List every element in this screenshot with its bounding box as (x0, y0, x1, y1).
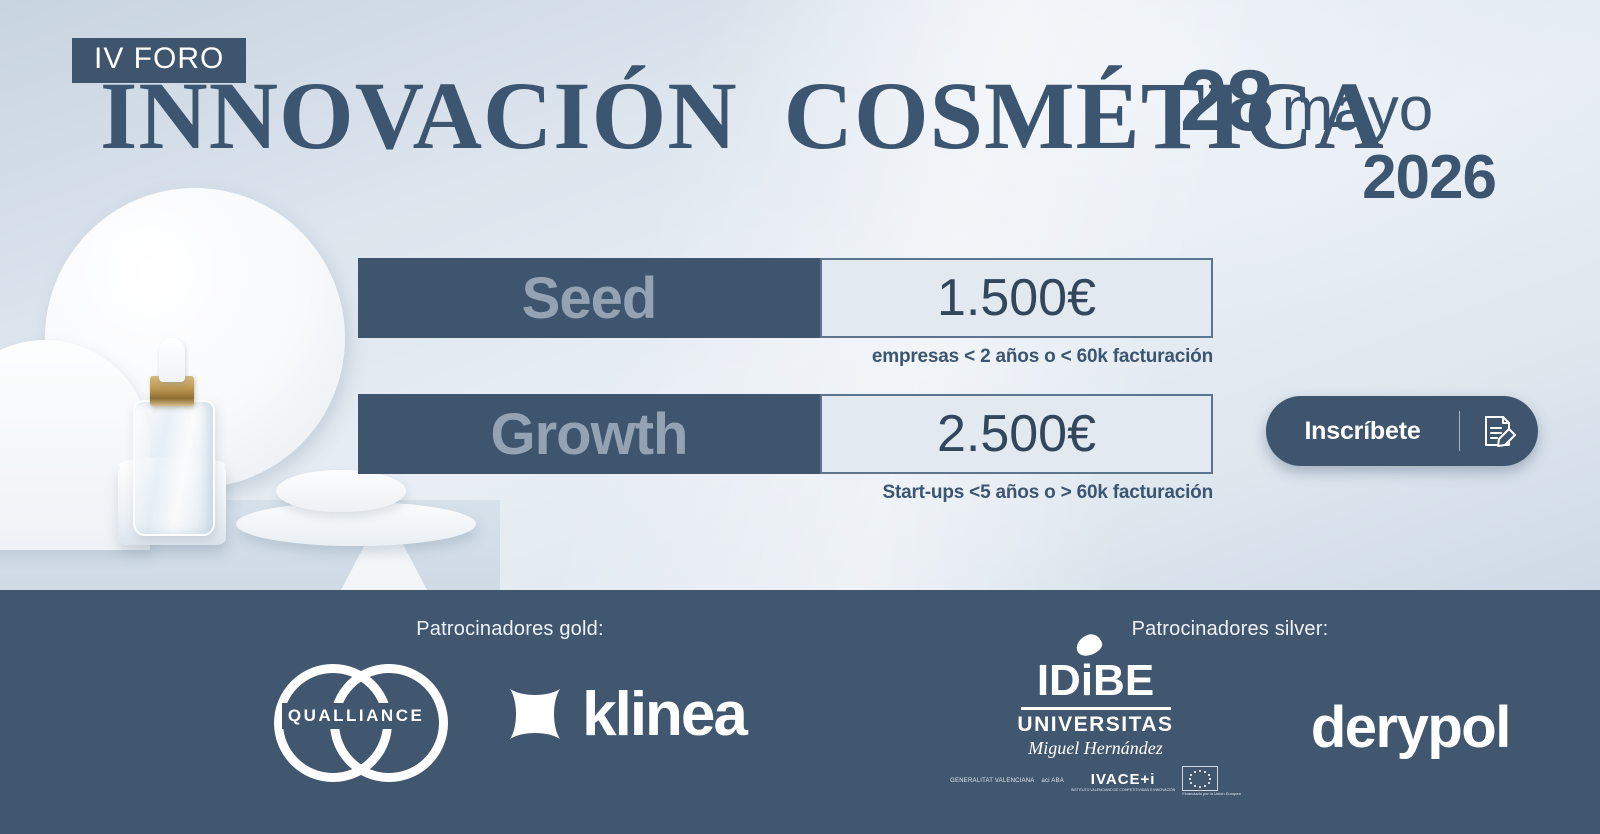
qualliance-wordmark: QUALLIANCE (282, 703, 430, 729)
generalitat-valenciana-logo: GENERALITAT VALENCIANA (950, 778, 1034, 785)
signup-document-pencil-icon[interactable] (1460, 411, 1538, 451)
date-day: 28 (1180, 53, 1272, 149)
klinea-mark-icon (504, 683, 566, 745)
eu-funding-caption: Financiado por la Unión Europea (1182, 792, 1240, 797)
derypol-wordmark: derypol (1311, 694, 1510, 761)
tier-name-seed: Seed (358, 258, 820, 338)
idibe-wordmark: IDiBE (950, 659, 1241, 703)
idibe-universitas: UNIVERSITAS (950, 713, 1241, 737)
tier-note-seed: empresas < 2 años o < 60k facturación (358, 346, 1213, 368)
ivace-wordmark: IVACE+i (1071, 771, 1175, 788)
klinea-wordmark: klinea (582, 679, 746, 750)
pricing-row-seed: Seed 1.500€ (358, 258, 1213, 338)
gold-sponsors-column: Patrocinadores gold: QUALLIANCE klinea (180, 590, 840, 834)
event-promo-banner: IV FORO INNOVACIÓNCOSMÉTICA 28mayo 2026 … (0, 0, 1600, 834)
date-year: 2026 (1180, 147, 1510, 209)
serum-bottle (133, 400, 215, 536)
headline-word-innovacion: INNOVACIÓN (100, 62, 738, 169)
product-photo (0, 170, 500, 590)
idibe-logo: IDiBE UNIVERSITAS Miguel Hernández GENER… (950, 659, 1241, 797)
eu-funding-logo: Financiado por la Unión Europea (1182, 766, 1240, 797)
event-date: 28mayo 2026 (1180, 62, 1510, 209)
page-title: INNOVACIÓNCOSMÉTICA (100, 66, 1150, 167)
dropper-cap (159, 338, 185, 382)
qualliance-rings-icon: QUALLIANCE (274, 659, 434, 769)
eu-flag-icon (1182, 766, 1218, 791)
sponsors-footer: Patrocinadores gold: QUALLIANCE klinea P… (0, 590, 1600, 834)
idibe-miguel-hernandez: Miguel Hernández (950, 738, 1241, 759)
gold-sponsor-logos: QUALLIANCE klinea (180, 659, 840, 769)
tier-name-growth: Growth (358, 394, 820, 474)
pricing-row-growth: Growth 2.500€ (358, 394, 1213, 474)
klinea-logo: klinea (504, 679, 746, 750)
tier-price-seed: 1.500€ (820, 258, 1213, 338)
gold-sponsors-label: Patrocinadores gold: (180, 590, 840, 641)
silver-sponsors-label: Patrocinadores silver: (900, 590, 1560, 641)
date-day-month: 28mayo (1180, 62, 1510, 145)
institutional-logos: GENERALITAT VALENCIANA aci ABA IVACE+i I… (950, 766, 1241, 797)
register-button[interactable]: Inscríbete (1266, 396, 1538, 466)
date-month: mayo (1282, 75, 1434, 144)
tier-note-growth: Start-ups <5 años o > 60k facturación (358, 482, 1213, 504)
hero-section: IV FORO INNOVACIÓNCOSMÉTICA 28mayo 2026 … (0, 0, 1600, 590)
aci-aba-logo: aci ABA (1041, 778, 1063, 785)
idibe-divider (1021, 707, 1171, 710)
ivace-logo: IVACE+i INSTITUTO VALENCIANO DE COMPETIT… (1071, 771, 1175, 792)
ivace-subtitle: INSTITUTO VALENCIANO DE COMPETITIVIDAD E… (1071, 788, 1175, 792)
silver-sponsor-logos: IDiBE UNIVERSITAS Miguel Hernández GENER… (900, 659, 1560, 797)
register-button-label: Inscríbete (1266, 417, 1459, 446)
tier-price-growth: 2.500€ (820, 394, 1213, 474)
silver-sponsors-column: Patrocinadores silver: IDiBE UNIVERSITAS… (900, 590, 1560, 834)
idibe-wordmark-text: IDiBE (1037, 656, 1154, 705)
